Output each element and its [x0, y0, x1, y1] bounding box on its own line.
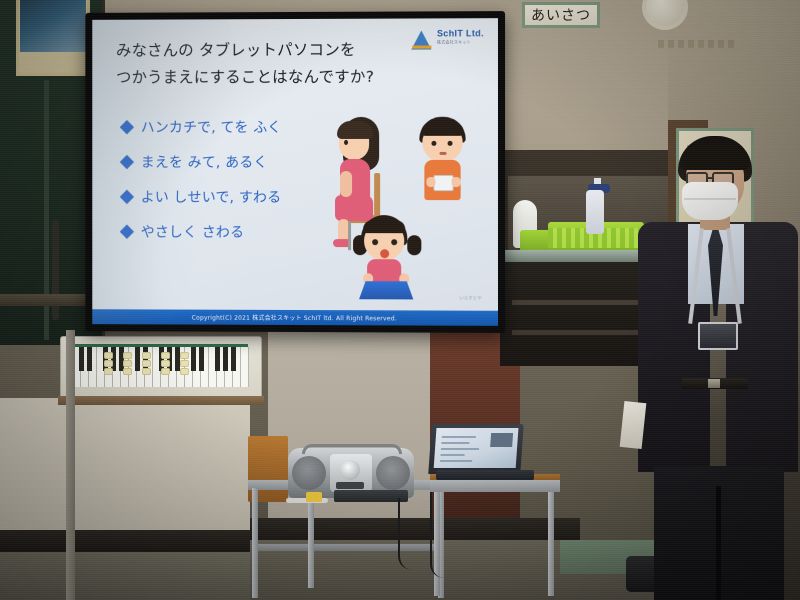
- illustration-credit: いらすとや: [459, 296, 482, 302]
- boombox-display: [336, 482, 364, 489]
- room-sign: あいさつ: [522, 2, 600, 28]
- bullet-label: ハンカチで, てを ふく: [141, 117, 282, 137]
- logo-subtitle: 株式会社スキット: [437, 39, 484, 45]
- diamond-bullet-icon: [120, 225, 134, 239]
- melodica-sticker: [123, 360, 132, 367]
- melodica-sticker: [161, 352, 170, 359]
- copyright-text: Copyright(C) 2021 株式会社スキット SchIT ltd. Al…: [192, 313, 397, 323]
- yellow-clip: [306, 492, 322, 502]
- melodica-black-key: [87, 347, 92, 371]
- diamond-bullet-icon: [120, 155, 134, 169]
- melodica-sticker: [161, 360, 170, 367]
- slide-footer-band: Copyright(C) 2021 株式会社スキット SchIT ltd. Al…: [92, 309, 498, 326]
- melodica-black-key: [79, 347, 84, 371]
- melodica-sticker: [180, 360, 189, 367]
- support-post: [66, 330, 75, 600]
- melodica-black-key: [223, 347, 228, 371]
- schit-triangle-logo-icon: [411, 28, 433, 50]
- laptop-screen: [434, 428, 519, 468]
- melodica-black-key: [215, 347, 220, 371]
- girl-with-pigtails-tablet: [349, 215, 427, 301]
- diamond-bullet-icon: [120, 190, 134, 204]
- melodica-sticker: [142, 352, 151, 359]
- melodica-sticker: [161, 368, 170, 375]
- wall-lettering: [658, 40, 738, 48]
- room-sign-label: あいさつ: [531, 5, 591, 25]
- bullet-label: まえを みて, あるく: [141, 152, 268, 172]
- left-baseboard: [0, 530, 250, 552]
- melodica-stickers: [104, 352, 200, 376]
- belt-buckle: [708, 379, 720, 388]
- boombox-speaker-right: [376, 456, 410, 490]
- slide-title: みなさんの タブレットパソコンを つかうまえにすることはなんですか?: [116, 36, 435, 91]
- melodica-sticker: [142, 360, 151, 367]
- wall-poster-image: [20, 0, 86, 52]
- presentation-laptop[interactable]: [428, 424, 523, 474]
- wall-mounted-display[interactable]: みなさんの タブレットパソコンを つかうまえにすることはなんですか? ハンカチで…: [85, 11, 505, 333]
- boy-holding-tablet: [413, 117, 471, 203]
- schit-logo: SchIT Ltd. 株式会社スキット: [411, 28, 484, 50]
- logo-name: SchIT Ltd.: [437, 28, 484, 38]
- melodica-sticker: [104, 360, 113, 367]
- classroom-presentation-photo: あいさつ みなさんの タブレットパソコンを つかうまえにすることはなんですか? …: [0, 0, 800, 600]
- left-floor: [0, 552, 250, 600]
- melodica-sticker: [104, 368, 113, 375]
- wall-shelf: [58, 396, 264, 405]
- melodica-sticker: [123, 368, 132, 375]
- slide-screen: みなさんの タブレットパソコンを つかうまえにすることはなんですか? ハンカチで…: [92, 18, 498, 326]
- laptop-keyboard-base[interactable]: [436, 470, 534, 480]
- id-badge: [698, 322, 738, 350]
- diamond-bullet-icon: [120, 120, 134, 134]
- melodica-black-key: [231, 347, 236, 371]
- bullet-label: よい しせいで, すわる: [141, 187, 282, 207]
- boombox-speaker-left: [292, 456, 326, 490]
- melodica-white-key: [241, 347, 249, 387]
- melodica-sticker: [180, 352, 189, 359]
- remote-device: [334, 490, 408, 502]
- spray-bottle: [586, 190, 604, 234]
- melodica-sticker: [123, 352, 132, 359]
- presenter: [616, 136, 800, 600]
- melodica-sticker: [142, 368, 151, 375]
- melodica-sticker: [180, 368, 189, 375]
- melodica-sticker: [104, 352, 113, 359]
- cd-disc: [340, 460, 360, 480]
- side-table: [430, 480, 560, 492]
- power-cable: [430, 492, 462, 578]
- face-mask: [682, 182, 738, 220]
- bullet-label: やさしく さわる: [141, 222, 244, 242]
